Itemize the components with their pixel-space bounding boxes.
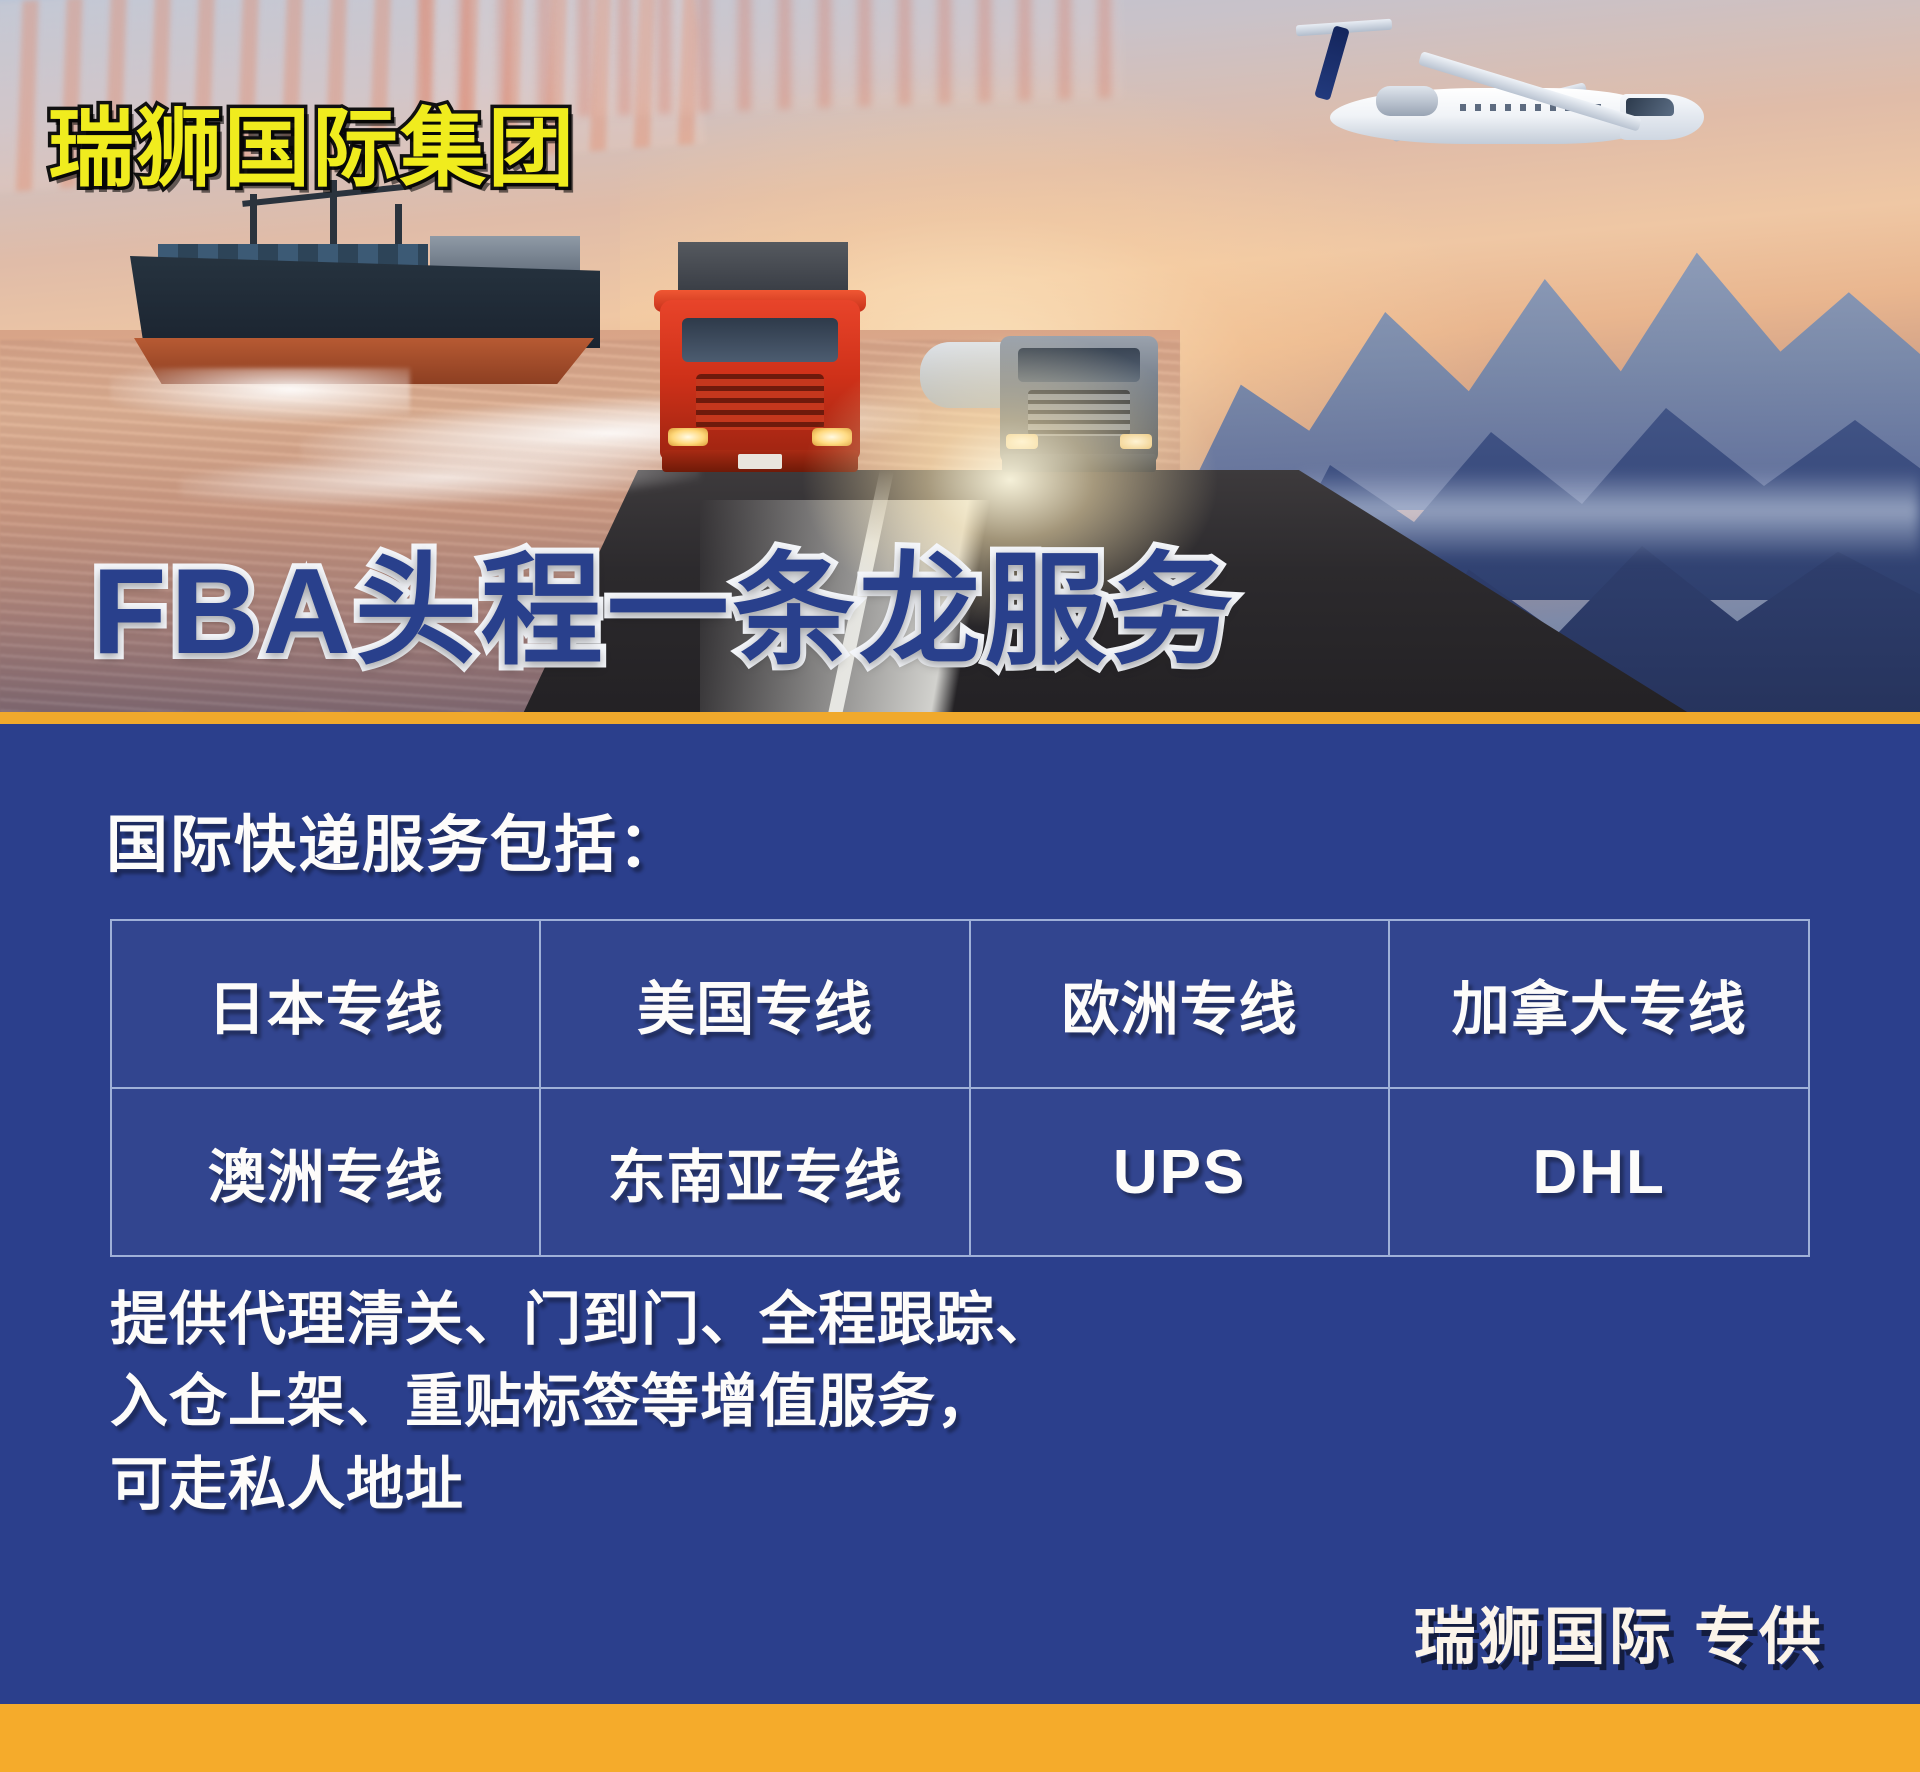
signature-text: 瑞狮国际 专供 xyxy=(1414,1586,1824,1676)
table-cell-canada: 加拿大专线 xyxy=(1389,920,1809,1088)
company-logo-text: 瑞狮国际集团 xyxy=(48,78,576,203)
hero-headline: FBA头程一条龙服务 xyxy=(92,512,1237,689)
poster-root: 瑞狮国际集团 FBA头程一条龙服务 国际快递服务包括： 日本专线 美国专线 欧洲… xyxy=(0,0,1920,1772)
table-cell-usa: 美国专线 xyxy=(540,920,969,1088)
body-line-1: 提供代理清关、门到门、全程跟踪、 xyxy=(110,1279,1054,1361)
table-cell-ups: UPS xyxy=(970,1088,1390,1256)
ship-bow-wake xyxy=(110,368,410,422)
ship-hull-upper xyxy=(130,256,600,348)
value-added-services-text: 提供代理清关、门到门、全程跟踪、 入仓上架、重贴标签等增值服务， 可走私人地址 xyxy=(110,1279,1054,1526)
panel-heading: 国际快递服务包括： xyxy=(106,794,682,884)
cargo-ship xyxy=(130,250,650,430)
hero-image: 瑞狮国际集团 FBA头程一条龙服务 xyxy=(0,0,1920,712)
info-panel: 国际快递服务包括： 日本专线 美国专线 欧洲专线 加拿大专线 澳洲专线 东南亚专… xyxy=(0,724,1920,1704)
orange-footer-bar xyxy=(0,1704,1920,1772)
jet-vertical-tail xyxy=(1314,25,1350,101)
table-cell-southeast-asia: 东南亚专线 xyxy=(540,1088,969,1256)
table-cell-australia: 澳洲专线 xyxy=(111,1088,540,1256)
red-truck-headlight-left xyxy=(668,428,708,446)
jet-engine xyxy=(1376,86,1438,116)
red-truck-licence-plate xyxy=(738,454,782,469)
service-lines-table: 日本专线 美国专线 欧洲专线 加拿大专线 澳洲专线 东南亚专线 UPS DHL xyxy=(110,919,1810,1257)
table-cell-europe: 欧洲专线 xyxy=(970,920,1390,1088)
table-cell-japan: 日本专线 xyxy=(111,920,540,1088)
table-row: 日本专线 美国专线 欧洲专线 加拿大专线 xyxy=(111,920,1809,1088)
orange-divider-bar xyxy=(0,712,1920,724)
jet-cockpit-window xyxy=(1626,98,1674,116)
body-line-3: 可走私人地址 xyxy=(110,1444,1054,1526)
body-line-2: 入仓上架、重贴标签等增值服务， xyxy=(110,1361,1054,1443)
table-cell-dhl: DHL xyxy=(1389,1088,1809,1256)
table-row: 澳洲专线 东南亚专线 UPS DHL xyxy=(111,1088,1809,1256)
private-jet xyxy=(1290,30,1710,230)
